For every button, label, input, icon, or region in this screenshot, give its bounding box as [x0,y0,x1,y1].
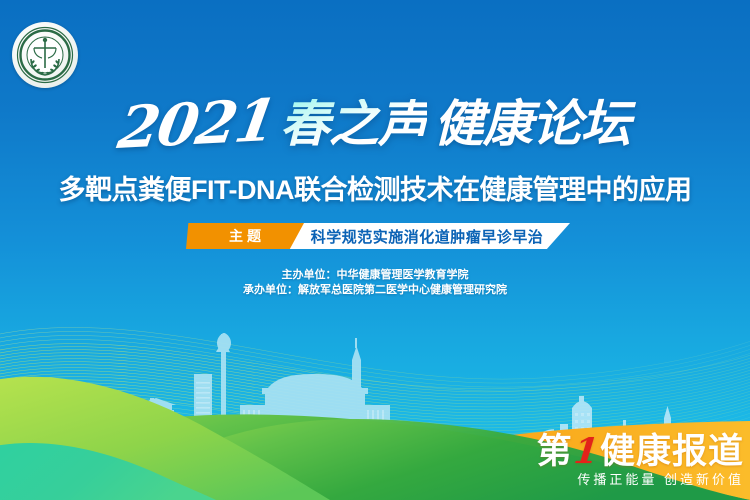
theme-ribbon-tab-label: 主题 [225,226,265,246]
theme-ribbon-tab: 主题 [186,223,304,249]
organizer-coordinator: 承办单位：解放军总医院第二医学中心健康管理研究院 [0,283,750,298]
green-hills-background [0,0,750,500]
headline-forum: 健康论坛 [434,99,630,149]
wave-lines-background [0,0,750,500]
media-brand-suffix: 健康报道 [600,432,744,471]
organizer-emblem [12,22,78,88]
organizers: 主办单位：中华健康管理医学教育学院 承办单位：解放军总医院第二医学中心健康管理研… [0,268,750,298]
media-brand-numeral: 1 [572,433,601,471]
headline: 2021 春之声 健康论坛 [0,88,750,160]
emblem-graphic [16,26,74,84]
city-skyline-silhouette [0,0,750,500]
event-poster: 2021 春之声 健康论坛 多靶点粪便FIT-DNA联合检测技术在健康管理中的应… [0,0,750,500]
organizer-host: 主办单位：中华健康管理医学教育学院 [0,268,750,283]
theme-ribbon: 科学规范实施消化道肿瘤早诊早治 主题 [186,223,570,249]
headline-spring: 春之声 [280,99,427,149]
media-brand-tagline: 传播正能量 创造新价值 [528,471,744,489]
theme-ribbon-text: 科学规范实施消化道肿瘤早诊早治 [306,223,548,249]
headline-year: 2021 [115,91,279,157]
media-brand-prefix: 第 [537,432,573,471]
media-brand-logo: 第1健康报道 传播正能量 创造新价值 [528,433,744,495]
media-brand-name: 第1健康报道 [528,433,744,471]
poster-subtitle: 多靶点粪便FIT-DNA联合检测技术在健康管理中的应用 [0,168,750,207]
